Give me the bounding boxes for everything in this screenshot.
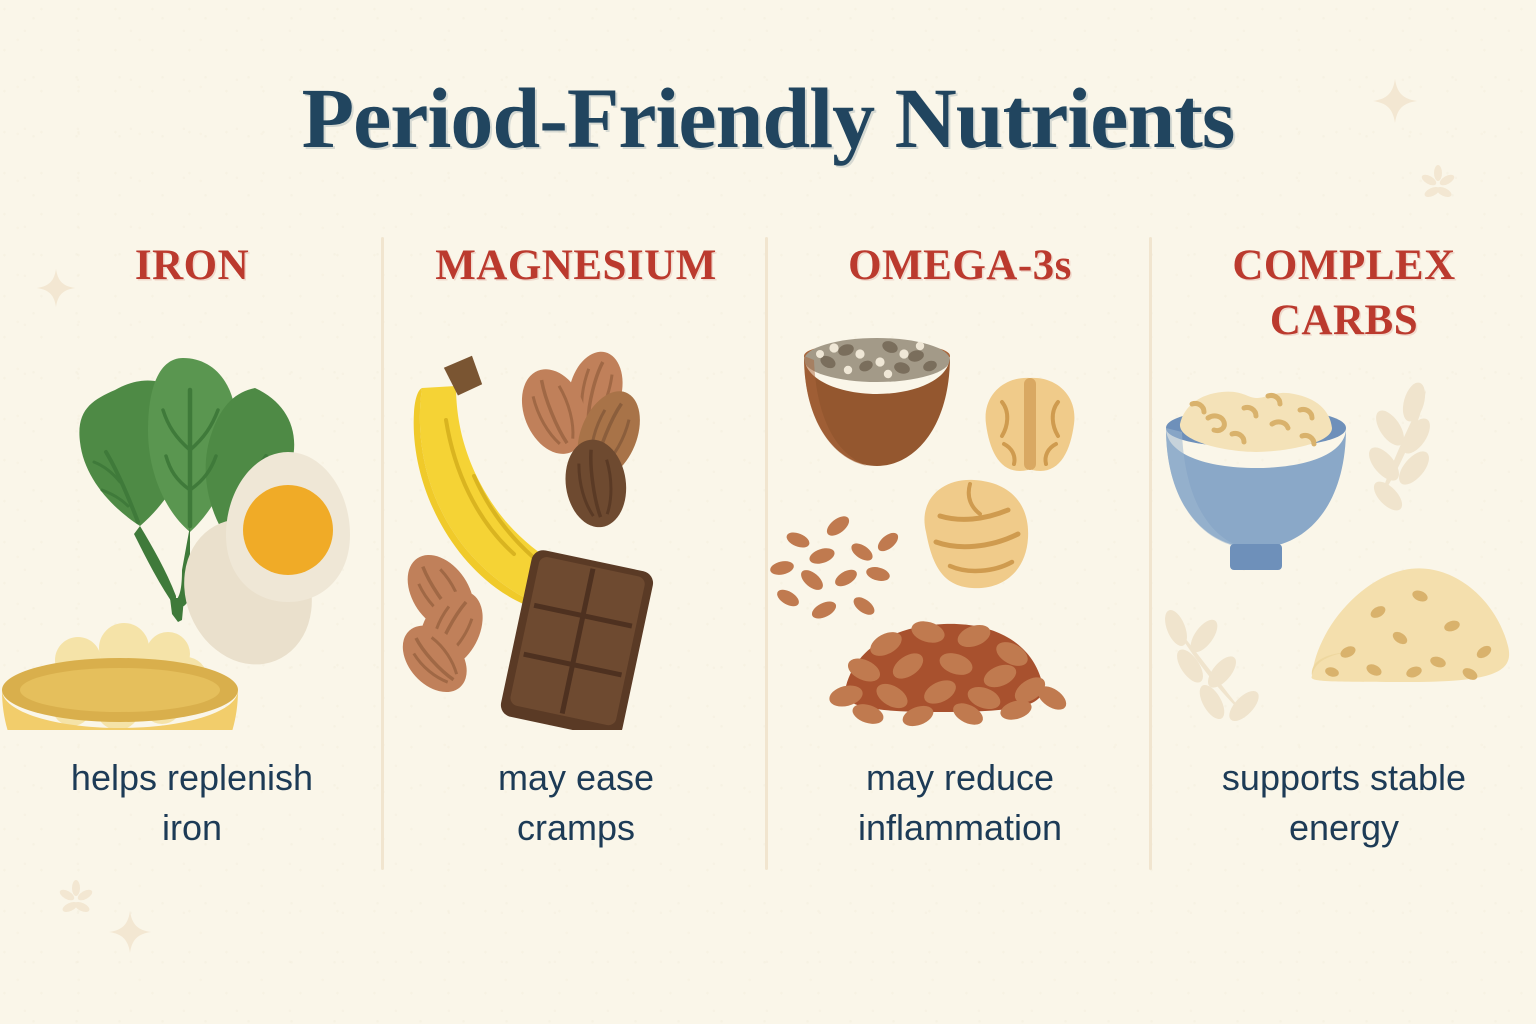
column-heading-magnesium: MAGNESIUM: [384, 238, 768, 293]
food-illustration-magnesium: [384, 330, 768, 730]
column-heading-complex-carbs: COMPLEX CARBS: [1152, 238, 1536, 348]
nutrient-column-magnesium: MAGNESIUM: [384, 238, 768, 878]
caption-line: cramps: [384, 803, 768, 853]
caption-line: supports stable: [1152, 753, 1536, 803]
flower-bottom-left-icon: [58, 880, 94, 916]
seed-pile-icon: [827, 618, 1070, 730]
infographic-root: Period-Friendly Nutrients IRON: [0, 0, 1536, 1024]
column-caption-omega3: may reduce inflammation: [768, 753, 1152, 852]
wheat-sprig-icon: [1161, 607, 1264, 726]
food-illustration-complex-carbs: [1152, 380, 1536, 780]
chia-pudding-bowl-icon: [804, 338, 950, 466]
caption-line: may reduce: [768, 753, 1152, 803]
oatmeal-bowl-icon: [1166, 392, 1346, 570]
caption-line: helps replenish: [0, 753, 384, 803]
chickpea-bowl-icon: [2, 623, 238, 730]
column-heading-omega3: OMEGA-3s: [768, 238, 1152, 293]
column-caption-magnesium: may ease cramps: [384, 753, 768, 852]
grain-mound-icon: [1312, 568, 1510, 682]
food-illustration-omega3: [768, 330, 1152, 730]
caption-line: inflammation: [768, 803, 1152, 853]
flaxseeds-icon: [769, 512, 901, 622]
caption-line: iron: [0, 803, 384, 853]
nutrient-column-omega3: OMEGA-3s: [768, 238, 1152, 878]
page-title: Period-Friendly Nutrients: [0, 68, 1536, 168]
wheat-sprig-icon: [1363, 380, 1435, 515]
walnut-halves-icon: [924, 378, 1074, 588]
heading-line: CARBS: [1152, 293, 1536, 348]
food-illustration-iron: [0, 330, 384, 730]
sparkle-bottom-left-icon: [108, 910, 152, 954]
column-heading-iron: IRON: [0, 238, 384, 293]
caption-line: energy: [1152, 803, 1536, 853]
column-caption-complex-carbs: supports stable energy: [1152, 753, 1536, 852]
nutrient-column-iron: IRON: [0, 238, 384, 878]
caption-line: may ease: [384, 753, 768, 803]
nutrient-column-complex-carbs: COMPLEX CARBS: [1152, 238, 1536, 878]
column-caption-iron: helps replenish iron: [0, 753, 384, 852]
heading-line: COMPLEX: [1152, 238, 1536, 293]
flower-top-right-icon: [1420, 165, 1456, 201]
